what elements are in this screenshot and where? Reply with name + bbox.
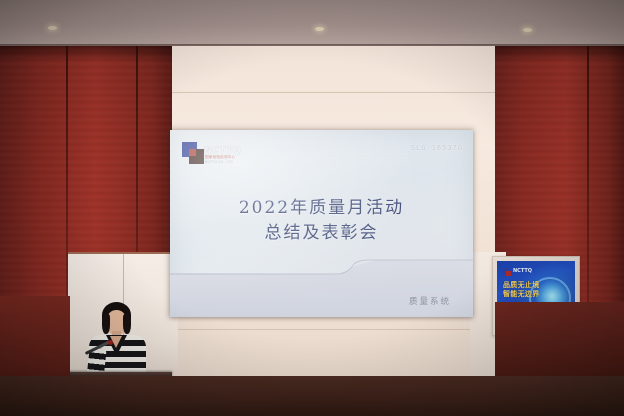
ceiling (0, 0, 624, 46)
wall-shadow (495, 46, 624, 62)
hair-side-left (102, 314, 110, 334)
slide-logo: NCTTQ 国家检验检测中心 NCTTQ CO., LTD (182, 142, 256, 168)
board-headline: 品质无止境 智能无边界 (503, 281, 547, 299)
slide-title-line-1: 2022年质量月活动 (239, 198, 404, 218)
slide-title-line-2: 总结及表彰会 (170, 221, 473, 246)
board-headline-line-2: 智能无边界 (503, 290, 547, 299)
slide-decorative-curve-band (170, 259, 473, 317)
board-headline-line-1: 品质无止境 (503, 281, 547, 290)
conference-room-photo: NCTTQ 国家检验检测中心 NCTTQ CO., LTD SLG 16537G… (0, 0, 624, 416)
hair-side-right (123, 314, 131, 334)
slide-footer-label: 质量系统 (409, 295, 451, 307)
wall-shadow (0, 46, 172, 62)
slide-code-label: SLG 16537G (411, 144, 463, 152)
wall-seam-line (150, 329, 500, 330)
slide-title: 2022年质量月活动 总结及表彰会 (170, 196, 473, 245)
slide-logo-sub-en: NCTTQ CO., LTD (205, 160, 233, 164)
ceiling-downlight (48, 26, 57, 30)
projection-screen: NCTTQ 国家检验检测中心 NCTTQ CO., LTD SLG 16537G… (170, 130, 473, 317)
ceiling-downlight (523, 28, 532, 32)
board-logo: NCTTQ (503, 268, 525, 276)
floor-strip (0, 376, 624, 416)
red-square-icon (189, 149, 196, 156)
microphone-head-icon (108, 340, 113, 345)
wall-seam-line (150, 92, 500, 93)
wood-panel-seam (587, 46, 589, 302)
speaker-person (86, 300, 148, 380)
board-logo-wordmark: NCTTQ (513, 268, 532, 274)
red-square-icon (506, 271, 511, 276)
ceiling-downlight (315, 27, 324, 31)
